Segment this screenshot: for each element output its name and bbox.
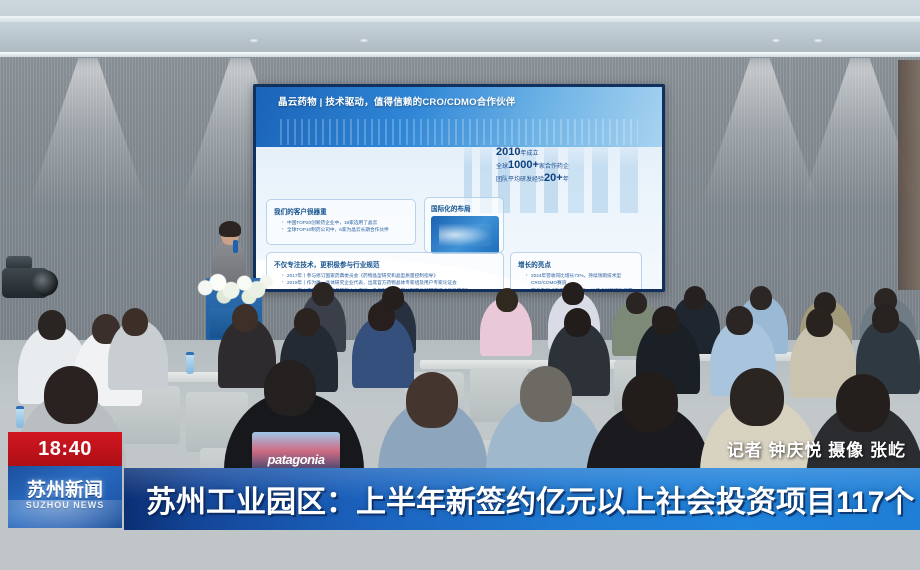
channel-name-en: SUZHOU NEWS <box>8 500 122 510</box>
audience-head <box>232 304 258 332</box>
reporter-credits: 记者 钟庆悦 摄像 张屹 <box>727 436 906 461</box>
audience-head <box>44 366 98 424</box>
audience-head <box>684 286 706 310</box>
ceiling-band <box>0 22 920 52</box>
world-map-graphic <box>431 216 499 254</box>
audience-head <box>294 308 320 336</box>
audience-head <box>836 374 890 432</box>
card-heading: 我们的客户很器重 <box>274 206 408 216</box>
time-badge: 18:40 <box>8 432 122 466</box>
microphone <box>233 240 238 253</box>
speaker-hair <box>219 221 241 237</box>
list-item: 全球TOP10制药公司中，6家为晶云长期合作伙伴 <box>282 226 408 233</box>
ceiling-spot-fixture <box>358 38 370 43</box>
broadcast-camera <box>0 250 62 316</box>
current-time: 18:40 <box>38 438 92 461</box>
camera-lens <box>32 270 58 296</box>
audience-head <box>750 286 772 310</box>
door-frame <box>898 60 920 290</box>
slide-stats: 2010年成立 全球1000+家合作药企 团队平均研发经验20+年 <box>496 147 646 186</box>
audience-head <box>622 372 678 432</box>
ceiling-spot-fixture <box>770 38 782 43</box>
slide-header <box>256 87 662 147</box>
audience-head <box>872 304 899 333</box>
audience-head <box>496 288 518 312</box>
card-heading: 不仅专注技术，更积极参与行业规范 <box>274 259 496 269</box>
audience-head <box>806 308 833 337</box>
bar-gloss <box>124 468 920 499</box>
broadcast-frame: 晶云药物 | 技术驱动，值得信赖的CRO/CDMO合作伙伴 2010年成立 全球… <box>0 0 920 570</box>
list-item: 2017年丨参与修订国家药典委员会《药物晶型研究和晶型质量控制指导》 <box>282 272 496 279</box>
channel-logo: 苏州新闻 SUZHOU NEWS <box>8 466 122 528</box>
presentation-screen: 晶云药物 | 技术驱动，值得信赖的CRO/CDMO合作伙伴 2010年成立 全球… <box>253 84 665 292</box>
stat-experience: 团队平均研发经验20+年 <box>496 173 646 186</box>
ceiling-spot-fixture <box>812 38 824 43</box>
audience-head <box>726 306 753 335</box>
slide-canvas: 晶云药物 | 技术驱动，值得信赖的CRO/CDMO合作伙伴 2010年成立 全球… <box>256 87 662 289</box>
slide-card-clients: 我们的客户很器重 中国TOP20创新药企业中，19家选用了晶云 全球TOP10制… <box>266 199 416 245</box>
audience-head <box>564 308 591 337</box>
audience-head <box>520 366 572 422</box>
ceiling-light-strip <box>0 16 920 22</box>
card-heading: 增长的亮点 <box>518 259 634 269</box>
channel-name-cn: 苏州新闻 <box>8 475 122 502</box>
card-list: 2017年丨参与修订国家药典委员会《药物晶型研究和晶型质量控制指导》 2019年… <box>274 272 496 289</box>
audience-head <box>730 368 784 426</box>
headline-lower-third: 苏州工业园区：上半年新签约亿元以上社会投资项目117个 <box>124 468 920 530</box>
slide-card-standards: 不仅专注技术，更积极参与行业规范 2017年丨参与修订国家药典委员会《药物晶型研… <box>266 252 504 289</box>
card-list: 中国TOP20创新药企业中，19家选用了晶云 全球TOP10制药公司中，6家为晶… <box>274 219 408 234</box>
audience-head <box>122 308 148 336</box>
audience-head <box>652 306 679 335</box>
card-heading: 国际化的布局 <box>431 203 497 213</box>
list-item: 中国TOP20创新药企业中，19家选用了晶云 <box>282 219 408 226</box>
slide-card-global: 国际化的布局 <box>424 197 504 253</box>
audience-head <box>38 310 66 340</box>
audience-head <box>312 282 334 306</box>
slide-title: 晶云药物 | 技术驱动，值得信赖的CRO/CDMO合作伙伴 <box>278 97 578 109</box>
audience-head <box>562 282 584 305</box>
audience-head <box>368 302 395 331</box>
stat-partners: 全球1000+家合作药企 <box>496 160 646 173</box>
audience-head <box>626 292 647 314</box>
flower-arrangement <box>196 268 274 304</box>
audience-head <box>264 360 316 416</box>
ceiling-spot-fixture <box>248 38 260 43</box>
water-bottle <box>186 352 194 374</box>
audience-head <box>406 372 458 428</box>
